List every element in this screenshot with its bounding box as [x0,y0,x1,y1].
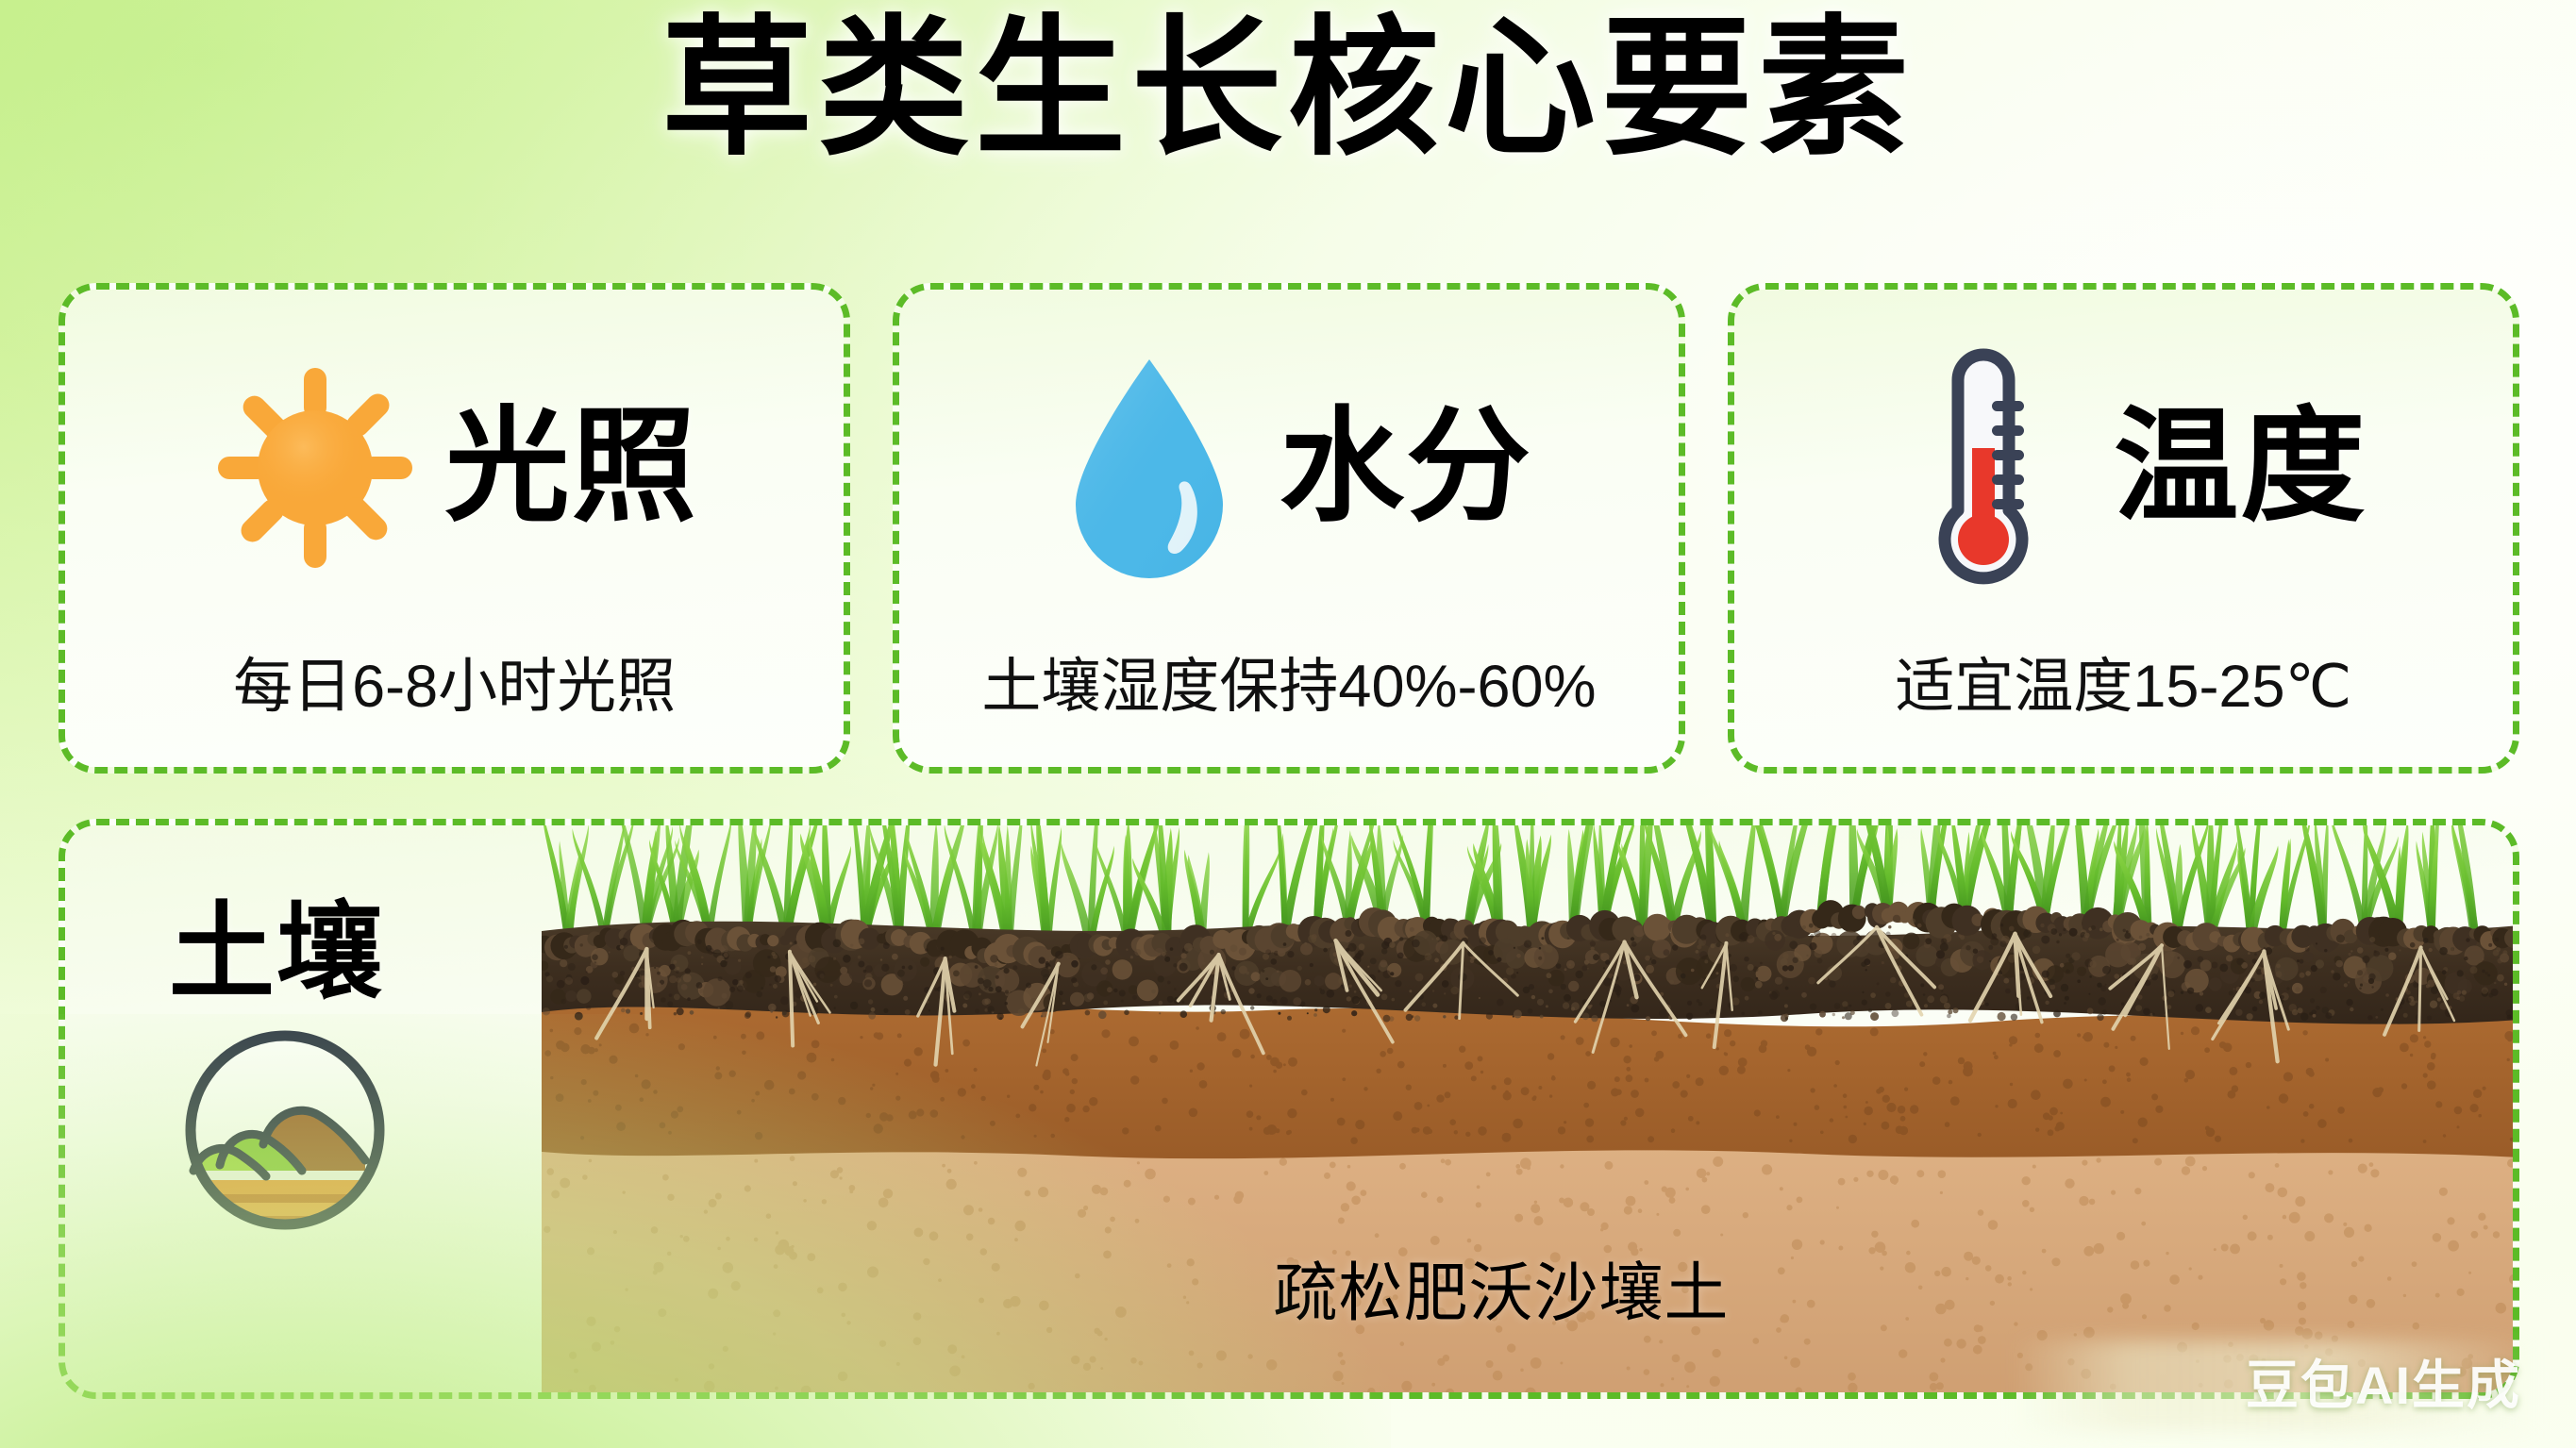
page-title: 草类生长核心要素 [661,13,1915,164]
card-caption-temperature: 适宜温度15-25℃ [1895,639,2351,724]
infographic-canvas: 草类生长核心要素 [0,0,2576,1448]
factor-card-temperature[interactable]: 温度 适宜温度15-25℃ [1728,283,2519,774]
soil-label: 土壤 [169,867,384,1020]
thermometer-icon [1880,349,2087,585]
card-header-water: 水分 [899,301,1678,633]
soil-section[interactable]: 土壤 [59,819,2519,1399]
soil-cross-section-illustration [483,825,2519,1399]
card-caption-water: 土壤湿度保持40%-60% [981,639,1596,724]
factor-cards-row: 光照 每日6-8小时光照 [59,283,2519,774]
factor-card-sunlight[interactable]: 光照 每日6-8小时光照 [59,283,850,774]
card-header-temperature: 温度 [1734,301,2513,633]
factor-card-water[interactable]: 水分 土壤湿度保持40%-60% [893,283,1684,774]
card-caption-sunlight: 每日6-8小时光照 [233,639,676,724]
sun-icon [211,349,419,585]
soil-layers-icon [176,1022,393,1239]
card-heading-sunlight: 光照 [445,404,698,531]
card-header-sunlight: 光照 [65,301,844,633]
card-heading-water: 水分 [1280,404,1532,531]
card-heading-temperature: 温度 [2114,404,2367,531]
title-container: 草类生长核心要素 [0,13,2576,164]
watermark: 豆包AI生成 [2246,1343,2521,1420]
water-drop-icon [1045,349,1253,585]
